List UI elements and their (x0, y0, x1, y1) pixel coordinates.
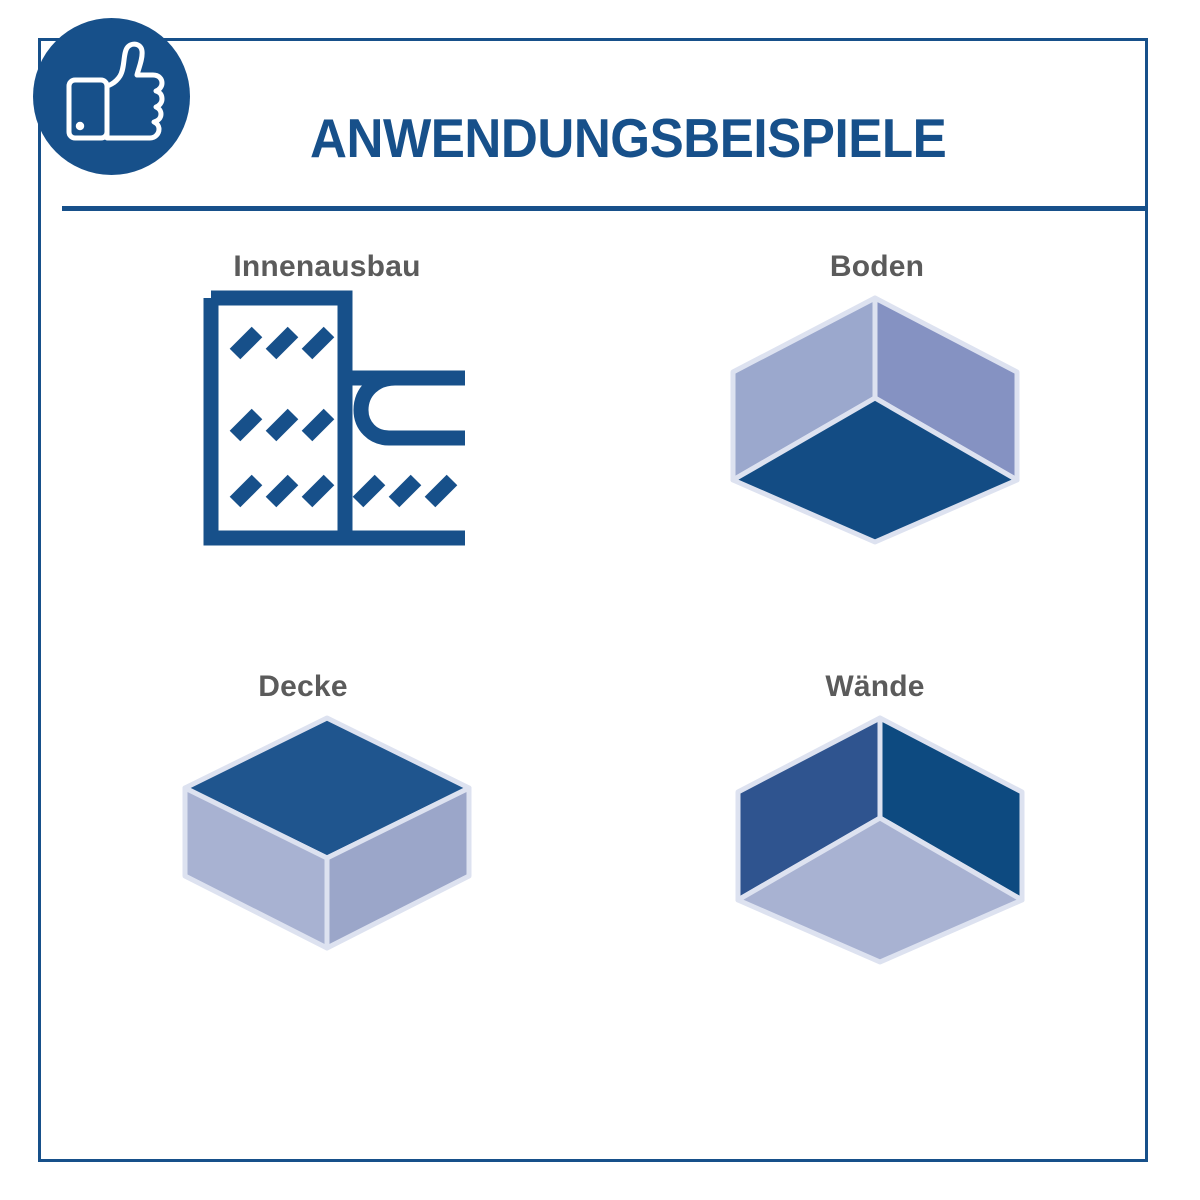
examples-grid: Innenausbau (62, 250, 1146, 1090)
example-label-decke: Decke (258, 670, 347, 704)
insulation-panel-icon (203, 290, 473, 560)
example-label-boden: Boden (830, 250, 924, 284)
example-art-decke (129, 710, 537, 1040)
title-divider (62, 206, 1146, 211)
example-waende: Wände (604, 670, 1146, 1090)
example-art-boden (695, 290, 1055, 620)
example-decke: Decke (62, 670, 604, 1090)
example-art-waende (690, 710, 1060, 1040)
isometric-ceiling-icon (177, 710, 477, 960)
thumbs-up-icon (33, 18, 190, 175)
page-title: ANWENDUNGSBEISPIELE (310, 106, 946, 170)
example-label-waende: Wände (825, 670, 924, 704)
thumbs-up-badge (33, 18, 190, 175)
example-innenausbau: Innenausbau (62, 250, 604, 670)
example-boden: Boden (604, 250, 1146, 670)
isometric-floor-icon (725, 290, 1025, 550)
isometric-walls-icon (730, 710, 1030, 970)
example-label-innenausbau: Innenausbau (233, 250, 420, 284)
application-examples-panel: ANWENDUNGSBEISPIELE Innenausbau (0, 0, 1200, 1200)
example-art-innenausbau (103, 290, 563, 620)
